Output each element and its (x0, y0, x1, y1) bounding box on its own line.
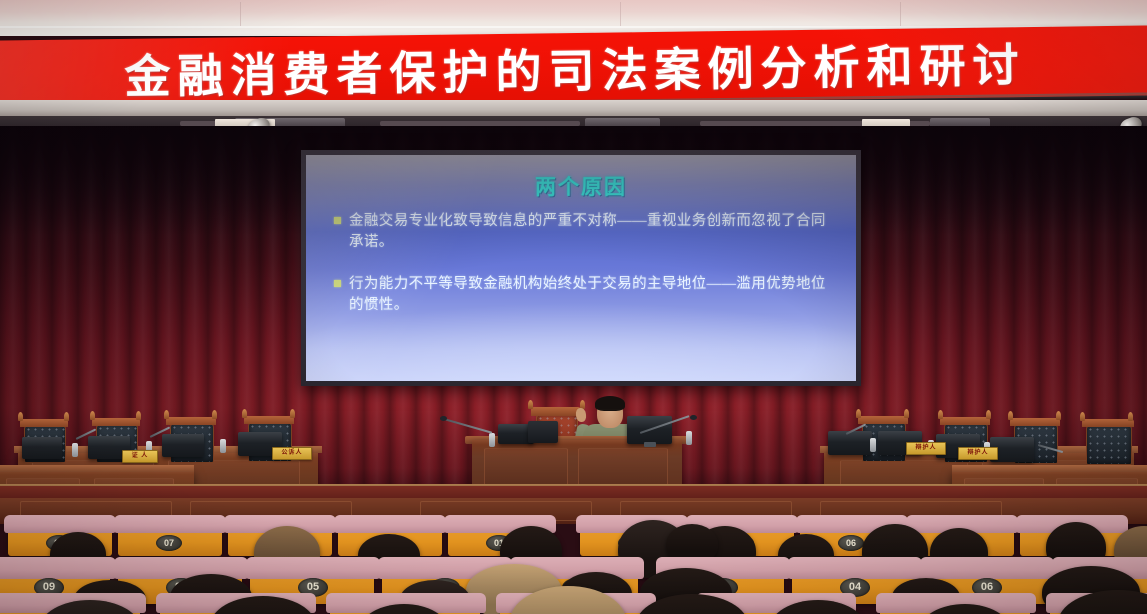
mic-head (440, 416, 447, 421)
bench-monitor (22, 437, 62, 459)
seat-cushion (788, 557, 922, 579)
seat-cushion (114, 515, 226, 533)
chair-crown (1082, 419, 1134, 427)
bench-monitor (828, 431, 872, 455)
chair-crown (244, 416, 294, 424)
chair-finial (986, 410, 991, 419)
ceiling-panel-seam (900, 2, 901, 26)
chair-finial (938, 410, 943, 419)
nameplate: 公诉人 (272, 447, 312, 460)
bench-top-edge (952, 465, 1147, 472)
ceiling-panel-seam (240, 2, 241, 26)
chair-finial (1008, 411, 1013, 420)
slide-title: 两个原因 (306, 171, 856, 201)
chair-crown (92, 418, 140, 426)
chair-crown (1010, 418, 1060, 426)
chair-finial (856, 409, 861, 418)
chair-finial (528, 400, 533, 409)
square-bullet-icon (334, 217, 341, 224)
seat-cushion (0, 557, 116, 579)
chair-crown (166, 417, 216, 425)
square-bullet-icon (334, 280, 341, 287)
chair-finial (136, 411, 141, 420)
nameplate: 证 人 (122, 450, 158, 463)
slide-bullet-list: 金融交易专业化致导致信息的严重不对称——重视业务创新而忽视了合同承诺。 行为能力… (334, 211, 840, 337)
mic-head (690, 415, 697, 420)
chair-crown (531, 407, 581, 416)
seat-number-badge: 06 (838, 535, 864, 551)
chair-finial (290, 409, 295, 418)
seat-cushion (4, 515, 116, 533)
chair-finial (1056, 411, 1061, 420)
bench-monitor (162, 434, 204, 457)
nameplate: 辩护人 (958, 447, 998, 460)
bench-top-edge (0, 465, 194, 472)
chair-finial (212, 410, 217, 419)
bench-equipment (528, 421, 558, 443)
seat-cushion (920, 557, 1054, 579)
slide-bullet-text: 行为能力不平等导致金融机构始终处于交易的主导地位——滥用优势地位的惯性。 (349, 274, 840, 315)
nameplate: 辩护人 (906, 442, 946, 455)
mic-base (489, 433, 495, 447)
chair-crown (940, 417, 990, 425)
chair-finial (904, 409, 909, 418)
slide-bullet-text: 金融交易专业化致导致信息的严重不对称——重视业务创新而忽视了合同承诺。 (349, 211, 840, 252)
chair-finial (1080, 412, 1085, 421)
projection-screen-frame: 两个原因 金融交易专业化致导致信息的严重不对称——重视业务创新而忽视了合同承诺。… (301, 150, 861, 386)
monitor-stand (644, 442, 656, 447)
glasses-icon (599, 409, 621, 415)
chair-finial (90, 411, 95, 420)
ceiling-panel-seam (620, 2, 621, 26)
audience-seating: 09 07 05 03 01 02 (0, 500, 1147, 614)
photo-scene: 金融消费者保护的司法案例分析和研讨 两个原因 金融交易专业化致导致信息的严重不对… (0, 0, 1147, 614)
chair-crown (20, 419, 68, 427)
seat-cushion (246, 557, 380, 579)
chair-finial (64, 412, 69, 421)
seat-cushion (334, 515, 446, 533)
mic-base (686, 431, 692, 445)
audience-seat[interactable]: 07 (118, 528, 222, 556)
chair-finial (164, 410, 169, 419)
seat-number-badge: 07 (156, 535, 182, 551)
chair-finial (242, 409, 247, 418)
mic-base (220, 439, 226, 453)
mic-base (870, 438, 876, 452)
chair-finial (18, 412, 23, 421)
list-item: 金融交易专业化致导致信息的严重不对称——重视业务创新而忽视了合同承诺。 (334, 211, 840, 252)
list-item: 行为能力不平等导致金融机构始终处于交易的主导地位——滥用优势地位的惯性。 (334, 274, 840, 315)
courtroom-chair (1086, 425, 1132, 465)
mic-base (72, 443, 78, 457)
chair-finial (1128, 412, 1133, 421)
projection-screen[interactable]: 两个原因 金融交易专业化致导致信息的严重不对称——重视业务创新而忽视了合同承诺。… (306, 155, 856, 381)
